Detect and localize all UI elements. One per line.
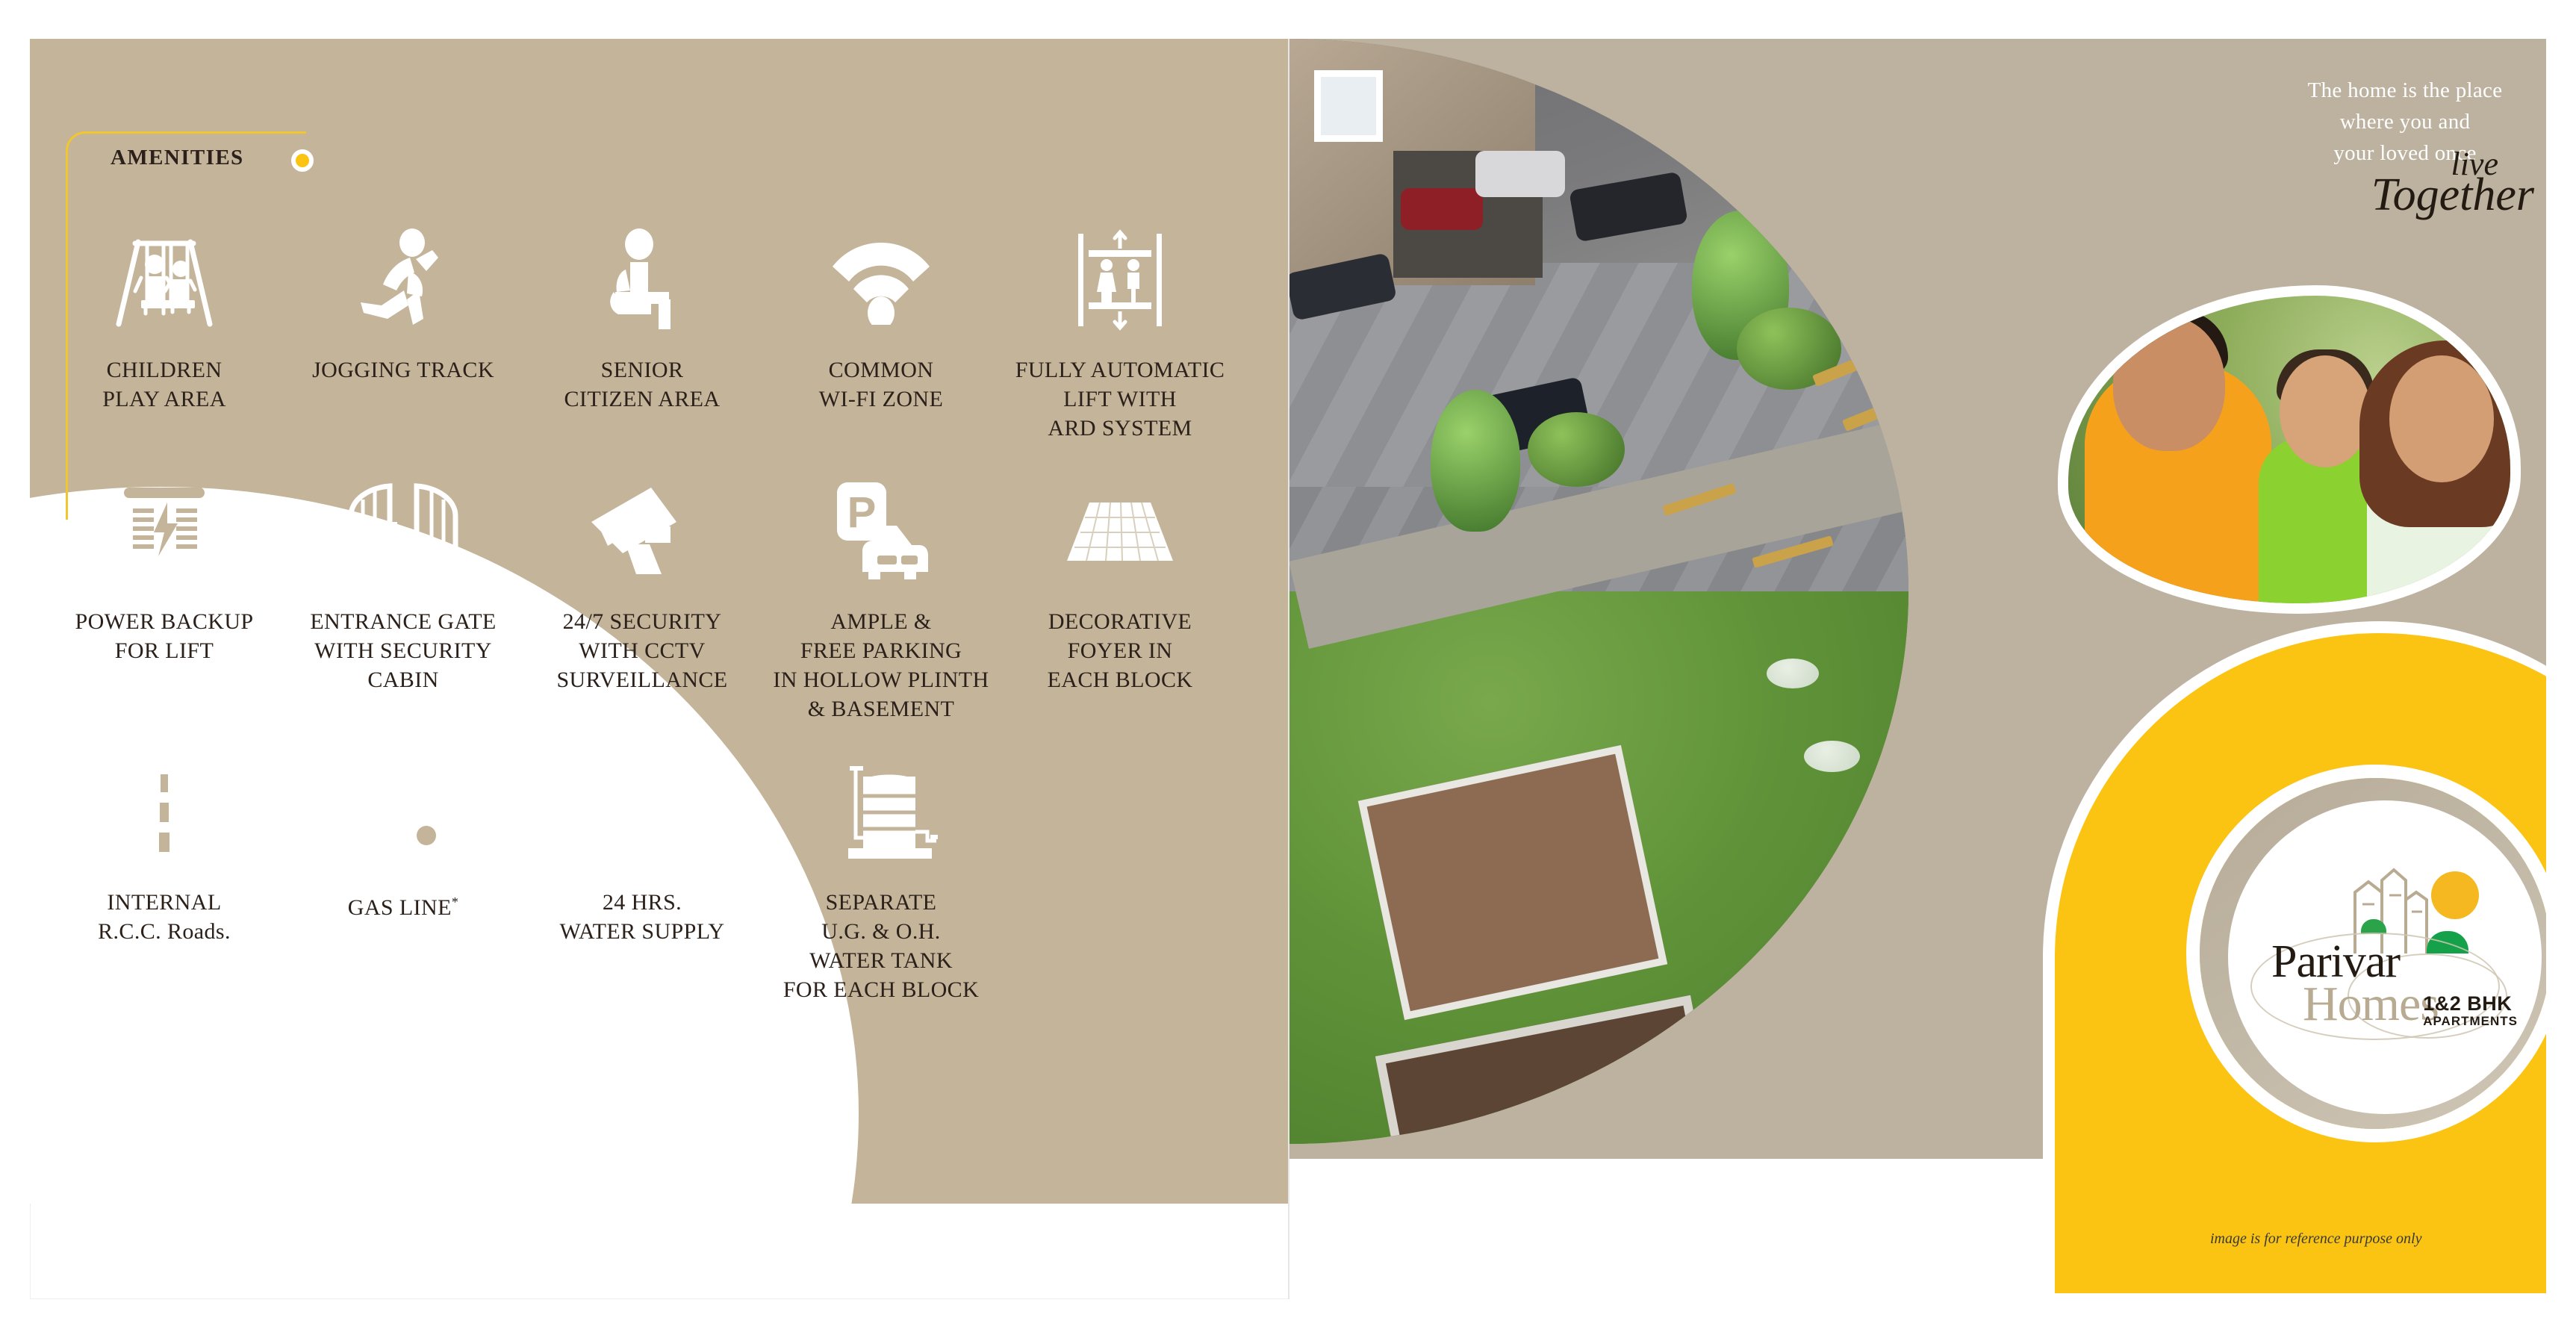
amenity-label: 24/7 SECURITY WITH CCTV SURVEILLANCE [556,607,727,694]
asterisk-mark: * [452,895,458,909]
amenity-item: P AMPLE & FREE PARKING IN HOLLOW PLINTH … [762,461,1001,724]
tiled-floor-icon [1064,461,1176,603]
amenities-grid: CHILDREN PLAY AREA JOGGING TRACK [45,209,1239,1004]
logo-badge: Parivar Homes 1&2 BHK APARTMENTS [2228,800,2542,1114]
amenity-label: SENIOR CITIZEN AREA [564,355,721,414]
amenity-label: DECORATIVE FOYER IN EACH BLOCK [1048,607,1193,694]
amenities-row: INTERNAL R.C.C. Roads. [45,741,1239,1004]
tagline-block: The home is the place where you and your… [2282,75,2528,228]
bracket-dot-icon [291,149,314,172]
amenities-row: POWER BACKUP FOR LIFT ENTRANCE GATE WITH… [45,461,1239,724]
right-page: The home is the place where you and your… [1289,39,2546,1299]
amenity-item: COMMON WI-FI ZONE [762,209,1001,443]
bhk-line2: APARTMENTS [2423,1014,2518,1029]
logo-name-bottom: Homes [2303,976,2439,1033]
amenity-item: SEPARATE U.G. & O.H. WATER TANK FOR EACH… [762,741,1001,1004]
amenity-item: INTERNAL R.C.C. Roads. [45,741,284,1004]
amenity-label: ENTRANCE GATE WITH SECURITY CABIN [310,607,496,694]
gas-pipe-icon [347,741,459,883]
amenity-label: FULLY AUTOMATIC LIFT WITH ARD SYSTEM [1015,355,1225,443]
water-tank-icon [821,741,941,883]
seated-person-icon [597,209,687,351]
family-photo [2058,285,2521,614]
amenity-item: 24/7 SECURITY WITH CCTV SURVEILLANCE [523,461,762,724]
wifi-icon [825,209,937,351]
amenity-item: GAS LINE* [284,741,523,1004]
cctv-camera-icon [582,461,702,603]
brochure-spread: AMENITIES [0,0,2576,1344]
amenities-row: CHILDREN PLAY AREA JOGGING TRACK [45,209,1239,443]
generator-icon [112,461,217,603]
amenity-label: JOGGING TRACK [312,355,494,385]
amenity-item: 24 HRS. WATER SUPPLY [523,741,762,1004]
amenity-item: ENTRANCE GATE WITH SECURITY CABIN [284,461,523,724]
amenities-heading: AMENITIES [111,146,244,170]
road-icon [116,741,213,883]
swing-icon [108,209,220,351]
amenity-label: GAS LINE* [348,888,458,922]
bhk-badge: 1&2 BHK APARTMENTS [2423,992,2518,1029]
aerial-render-photo [1289,39,1961,1144]
amenity-item: DECORATIVE FOYER IN EACH BLOCK [1001,461,1239,724]
running-person-icon [355,209,452,351]
amenity-item: FULLY AUTOMATIC LIFT WITH ARD SYSTEM [1001,209,1239,443]
amenity-item: POWER BACKUP FOR LIFT [45,461,284,724]
amenity-label: CHILDREN PLAY AREA [102,355,226,414]
disclaimer-text: image is for reference purpose only [2210,1231,2421,1248]
bhk-line1: 1&2 BHK [2423,992,2518,1015]
amenity-label: 24 HRS. WATER SUPPLY [560,888,725,946]
gate-icon [343,461,463,603]
parivar-homes-logo: Parivar Homes 1&2 BHK APARTMENTS [2250,864,2519,1051]
water-tap-icon [582,741,702,883]
amenity-spacer [1001,741,1239,1004]
amenity-label: COMMON WI-FI ZONE [819,355,943,414]
amenity-label: POWER BACKUP FOR LIFT [75,607,254,665]
amenity-label: AMPLE & FREE PARKING IN HOLLOW PLINTH & … [773,607,989,724]
aerial-photo-frame [1289,39,1961,1144]
amenity-item: CHILDREN PLAY AREA [45,209,284,443]
parking-car-icon: P [818,461,945,603]
amenity-label: INTERNAL R.C.C. Roads. [98,888,231,946]
amenity-item: JOGGING TRACK [284,209,523,443]
amenity-item: SENIOR CITIZEN AREA [523,209,762,443]
tagline-script-together: Together [2371,169,2534,222]
amenity-label: SEPARATE U.G. & O.H. WATER TANK FOR EACH… [783,888,979,1004]
page-fold-line [1288,39,1289,1299]
elevator-icon [1068,209,1172,351]
